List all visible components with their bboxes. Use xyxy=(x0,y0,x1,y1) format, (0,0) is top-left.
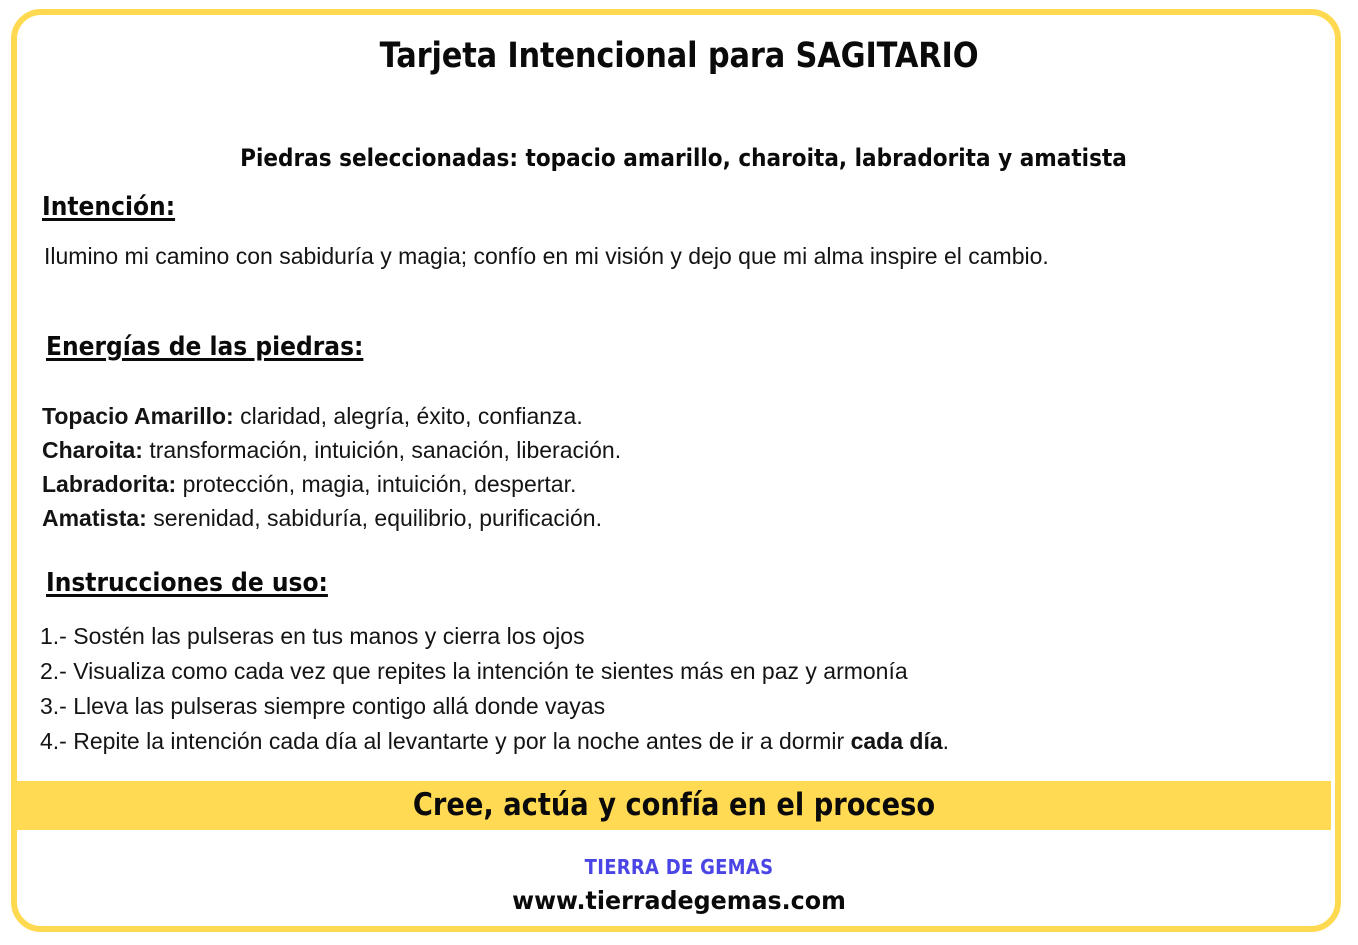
section-heading-intencion: Intención: xyxy=(42,192,175,222)
website-url[interactable]: www.tierradegemas.com xyxy=(34,886,1324,915)
affirmation-banner: Cree, actúa y confía en el proceso xyxy=(17,781,1331,830)
stone-name: Amatista: xyxy=(42,505,147,531)
section-heading-energias: Energías de las piedras: xyxy=(46,332,363,362)
list-item: Labradorita: protección, magia, intuició… xyxy=(42,467,1242,501)
list-item: Topacio Amarillo: claridad, alegría, éxi… xyxy=(42,399,1242,433)
list-item: 1.- Sostén las pulseras en tus manos y c… xyxy=(40,619,1310,654)
instruction-text: 4.- Repite la intención cada día al leva… xyxy=(40,728,851,754)
list-item: 2.- Visualiza como cada vez que repites … xyxy=(40,654,1310,689)
stone-name: Charoita: xyxy=(42,437,143,463)
instruction-emphasis: cada día xyxy=(851,728,943,754)
stone-energies-list: Topacio Amarillo: claridad, alegría, éxi… xyxy=(42,399,1242,535)
list-item: Amatista: serenidad, sabiduría, equilibr… xyxy=(42,501,1242,535)
stone-qualities: serenidad, sabiduría, equilibrio, purifi… xyxy=(153,505,602,531)
intention-text: Ilumino mi camino con sabiduría y magia;… xyxy=(44,238,1316,275)
stone-name: Labradorita: xyxy=(42,471,176,497)
instruction-text: 3.- Lleva las pulseras siempre contigo a… xyxy=(40,693,605,719)
section-heading-instrucciones: Instrucciones de uso: xyxy=(46,568,328,598)
stone-name: Topacio Amarillo: xyxy=(42,403,234,429)
card-content: Tarjeta Intencional para SAGITARIO Piedr… xyxy=(0,0,1358,945)
affirmation-text: Cree, actúa y confía en el proceso xyxy=(96,781,1252,830)
list-item: 4.- Repite la intención cada día al leva… xyxy=(40,724,1310,759)
instruction-tail: . xyxy=(943,728,949,754)
intention-card-page: Tarjeta Intencional para SAGITARIO Piedr… xyxy=(0,0,1358,945)
instruction-text: 2.- Visualiza como cada vez que repites … xyxy=(40,658,908,684)
instruction-text: 1.- Sostén las pulseras en tus manos y c… xyxy=(40,623,585,649)
selected-stones-line: Piedras seleccionadas: topacio amarillo,… xyxy=(68,144,1290,172)
stone-qualities: claridad, alegría, éxito, confianza. xyxy=(240,403,583,429)
stone-qualities: transformación, intuición, sanación, lib… xyxy=(149,437,621,463)
instructions-list: 1.- Sostén las pulseras en tus manos y c… xyxy=(40,619,1310,759)
list-item: 3.- Lleva las pulseras siempre contigo a… xyxy=(40,689,1310,724)
brand-name: TIERRA DE GEMAS xyxy=(68,855,1290,879)
stone-qualities: protección, magia, intuición, despertar. xyxy=(183,471,577,497)
list-item: Charoita: transformación, intuición, san… xyxy=(42,433,1242,467)
page-title: Tarjeta Intencional para SAGITARIO xyxy=(88,36,1269,76)
